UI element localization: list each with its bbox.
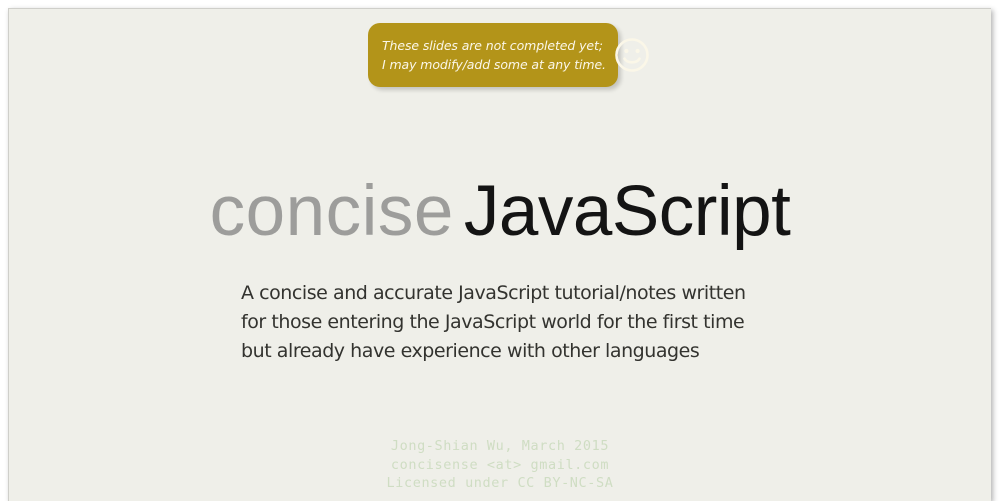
notice-badge: These slides are not completed yet; I ma…: [368, 23, 618, 87]
presentation-slide: These slides are not completed yet; I ma…: [8, 8, 991, 501]
title-word-concise: concise: [210, 172, 454, 251]
credits-license-line: Licensed under CC BY-NC-SA: [9, 474, 991, 493]
subtitle-line-2: for those entering the JavaScript world …: [241, 308, 801, 337]
page-title: conciseJavaScript: [9, 169, 991, 255]
notice-line-2: I may modify/add some at any time.: [382, 55, 606, 74]
smiley-face-icon: [612, 35, 652, 75]
notice-text: These slides are not completed yet; I ma…: [382, 36, 606, 74]
notice-line-1: These slides are not completed yet;: [382, 36, 606, 55]
subtitle-line-1: A concise and accurate JavaScript tutori…: [241, 279, 801, 308]
author-credits: Jong-Shian Wu, March 2015 concisense <at…: [9, 437, 991, 493]
title-word-javascript: JavaScript: [464, 172, 790, 251]
subtitle-line-3: but already have experience with other l…: [241, 337, 801, 366]
subtitle-description: A concise and accurate JavaScript tutori…: [241, 279, 801, 366]
credits-author-line: Jong-Shian Wu, March 2015: [9, 437, 991, 456]
credits-email-line: concisense <at> gmail.com: [9, 456, 991, 475]
